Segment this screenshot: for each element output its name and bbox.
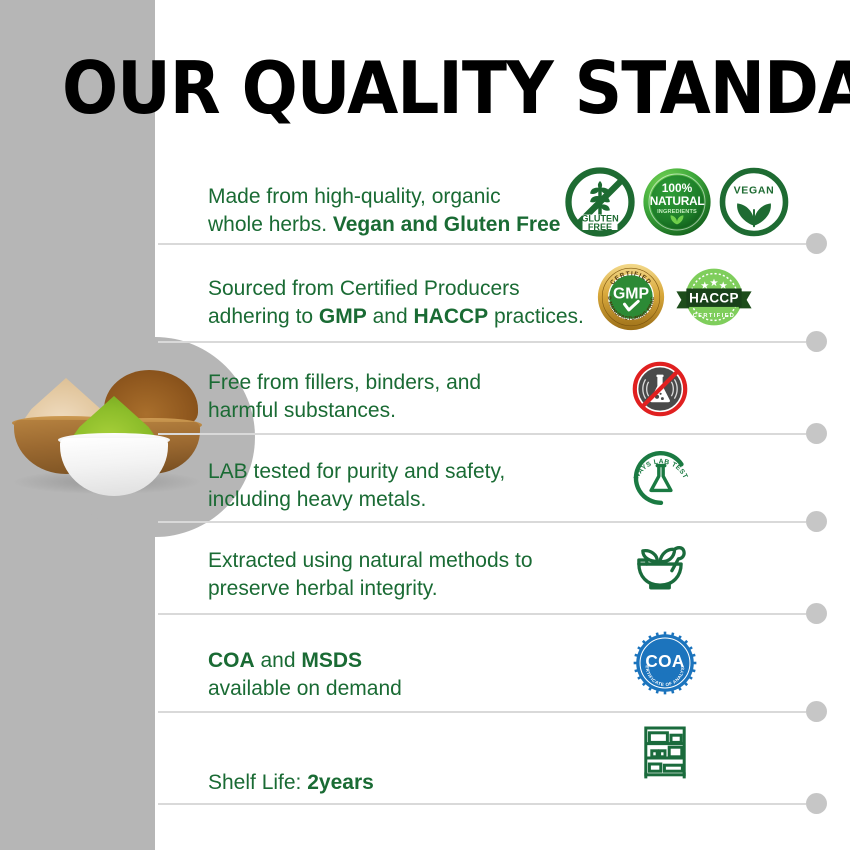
standard-row-coa-msds: COA and MSDS available on demand xyxy=(155,613,850,711)
row-text-no-fillers: Free from fillers, binders, and harmful … xyxy=(208,369,481,425)
row7-line1: Shelf Life: 2years xyxy=(208,769,374,797)
row1-line1: Made from high-quality, organic xyxy=(208,183,560,211)
row6-line2: available on demand xyxy=(208,675,402,703)
row2-line1: Sourced from Certified Producers xyxy=(208,275,584,303)
standard-row-shelf-life: Shelf Life: 2years xyxy=(155,711,850,803)
haccp-certified-badge: HACCP CERTIFIED xyxy=(675,261,753,333)
row5-badges xyxy=(627,535,693,601)
row1-badges: GLUTEN FREE xyxy=(565,167,789,237)
gluten-free-label-line2: FREE xyxy=(588,222,612,232)
row6-line1: COA and MSDS xyxy=(208,647,402,675)
no-chemicals-icon xyxy=(630,359,690,419)
row3-line1: Free from fillers, binders, and xyxy=(208,369,481,397)
row-text-natural-extraction: Extracted using natural methods to prese… xyxy=(208,547,533,603)
natural-badge-mid-label: NATURAL xyxy=(650,194,705,208)
gluten-free-badge: GLUTEN FREE xyxy=(565,167,635,237)
standard-row-no-fillers: Free from fillers, binders, and harmful … xyxy=(155,341,850,433)
row-text-coa-msds: COA and MSDS available on demand xyxy=(208,647,402,703)
standard-row-certified-producers: Sourced from Certified Producers adherin… xyxy=(155,243,850,341)
always-lab-tested-badge: ALWAYS LAB TESTED xyxy=(630,447,692,509)
row-text-organic-whole-herbs: Made from high-quality, organic whole he… xyxy=(208,183,560,239)
row5-line2: preserve herbal integrity. xyxy=(208,575,533,603)
row-text-shelf-life: Shelf Life: 2years xyxy=(208,769,374,797)
row3-line2: harmful substances. xyxy=(208,397,481,425)
row1-line2: whole herbs. Vegan and Gluten Free xyxy=(208,211,560,239)
row2-line2-suffix: practices. xyxy=(488,305,584,328)
row2-line2-prefix: adhering to xyxy=(208,305,319,328)
row-text-certified-producers: Sourced from Certified Producers adherin… xyxy=(208,275,584,331)
standard-row-natural-extraction: Extracted using natural methods to prese… xyxy=(155,521,850,613)
row4-line2: including heavy metals. xyxy=(208,486,505,514)
row6-badges: COA CERTIFICATE OF ANALYSIS xyxy=(633,631,697,695)
row2-line2: adhering to GMP and HACCP practices. xyxy=(208,303,584,331)
row1-line2-bold: Vegan and Gluten Free xyxy=(333,213,561,236)
vegan-label: VEGAN xyxy=(734,185,775,197)
standard-row-organic-whole-herbs: Made from high-quality, organic whole he… xyxy=(155,165,850,243)
100-natural-ingredients-badge: 100% NATURAL INGREDIENTS xyxy=(642,167,712,237)
row7-badges xyxy=(635,721,695,783)
row6-line1-mid: and xyxy=(255,649,302,672)
row-divider-7 xyxy=(158,803,806,805)
row1-line2-prefix: whole herbs. xyxy=(208,213,333,236)
gmp-certified-badge: CERTIFIED GOOD MANUFACTURING PRACTICE GM… xyxy=(595,261,667,333)
row2-line2-bold2: HACCP xyxy=(413,305,488,328)
row-divider-dot-7 xyxy=(806,793,827,814)
row2-badges: CERTIFIED GOOD MANUFACTURING PRACTICE GM… xyxy=(595,261,753,333)
natural-badge-bottom-label: INGREDIENTS xyxy=(657,209,697,215)
shelf-rack-icon xyxy=(635,721,695,783)
mortar-pestle-icon xyxy=(627,535,693,601)
coa-badge: COA CERTIFICATE OF ANALYSIS xyxy=(633,631,697,695)
row4-badges: ALWAYS LAB TESTED xyxy=(630,447,692,509)
row5-line1: Extracted using natural methods to xyxy=(208,547,533,575)
gmp-label: GMP xyxy=(613,285,649,302)
natural-badge-top-label: 100% xyxy=(662,181,693,195)
page-title: OUR QUALITY STANDARDS xyxy=(62,52,837,124)
row2-line2-mid: and xyxy=(367,305,414,328)
row6-line1-bold2: MSDS xyxy=(301,649,362,672)
row2-line2-bold: GMP xyxy=(319,305,367,328)
row7-line1-prefix: Shelf Life: xyxy=(208,771,307,794)
coa-label: COA xyxy=(645,651,685,671)
vegan-badge: VEGAN xyxy=(719,167,789,237)
standard-row-lab-tested: LAB tested for purity and safety, includ… xyxy=(155,433,850,521)
haccp-bottom-label: CERTIFIED xyxy=(693,313,736,319)
row4-line1: LAB tested for purity and safety, xyxy=(208,458,505,486)
row7-line1-bold: 2years xyxy=(307,771,374,794)
row6-line1-bold: COA xyxy=(208,649,255,672)
haccp-label: HACCP xyxy=(689,291,739,306)
row3-badges xyxy=(630,359,690,419)
row-text-lab-tested: LAB tested for purity and safety, includ… xyxy=(208,458,505,514)
